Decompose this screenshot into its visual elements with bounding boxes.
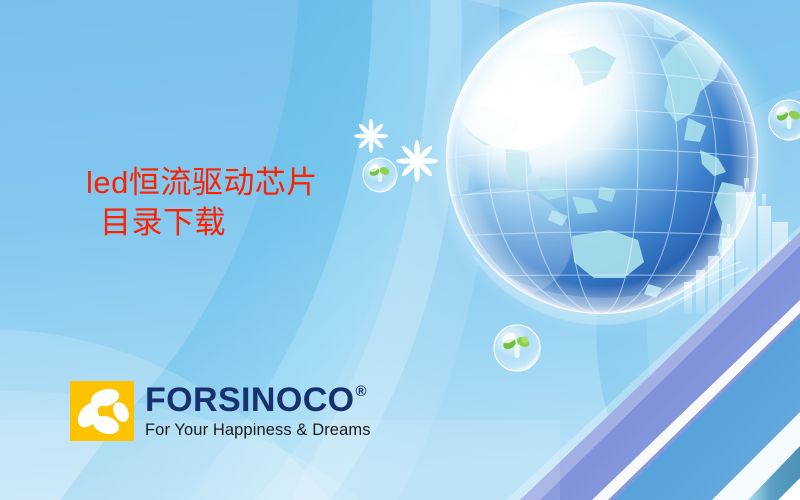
logo-wordmark: FORSINOCO ® [145,383,371,417]
four-petal-pinwheel-mark [70,381,134,441]
promotional-banner: led恒流驱动芯片 目录下载 FORSINOCO ® For Your Happ… [0,0,800,500]
brand-logo[interactable]: FORSINOCO ® For Your Happiness & Dreams [70,381,371,441]
headline-line-1: led恒流驱动芯片 [86,163,416,203]
flower-sparkle [354,119,388,153]
headline-line-2: 目录下载 [86,203,416,243]
eco-bubble [494,325,540,371]
logo-tagline: For Your Happiness & Dreams [145,422,371,439]
logo-text-block: FORSINOCO ® For Your Happiness & Dreams [145,383,371,439]
headline: led恒流驱动芯片 目录下载 [86,163,416,242]
logo-wordmark-text: FORSINOCO [145,383,355,417]
registered-trademark-icon: ® [356,384,367,399]
